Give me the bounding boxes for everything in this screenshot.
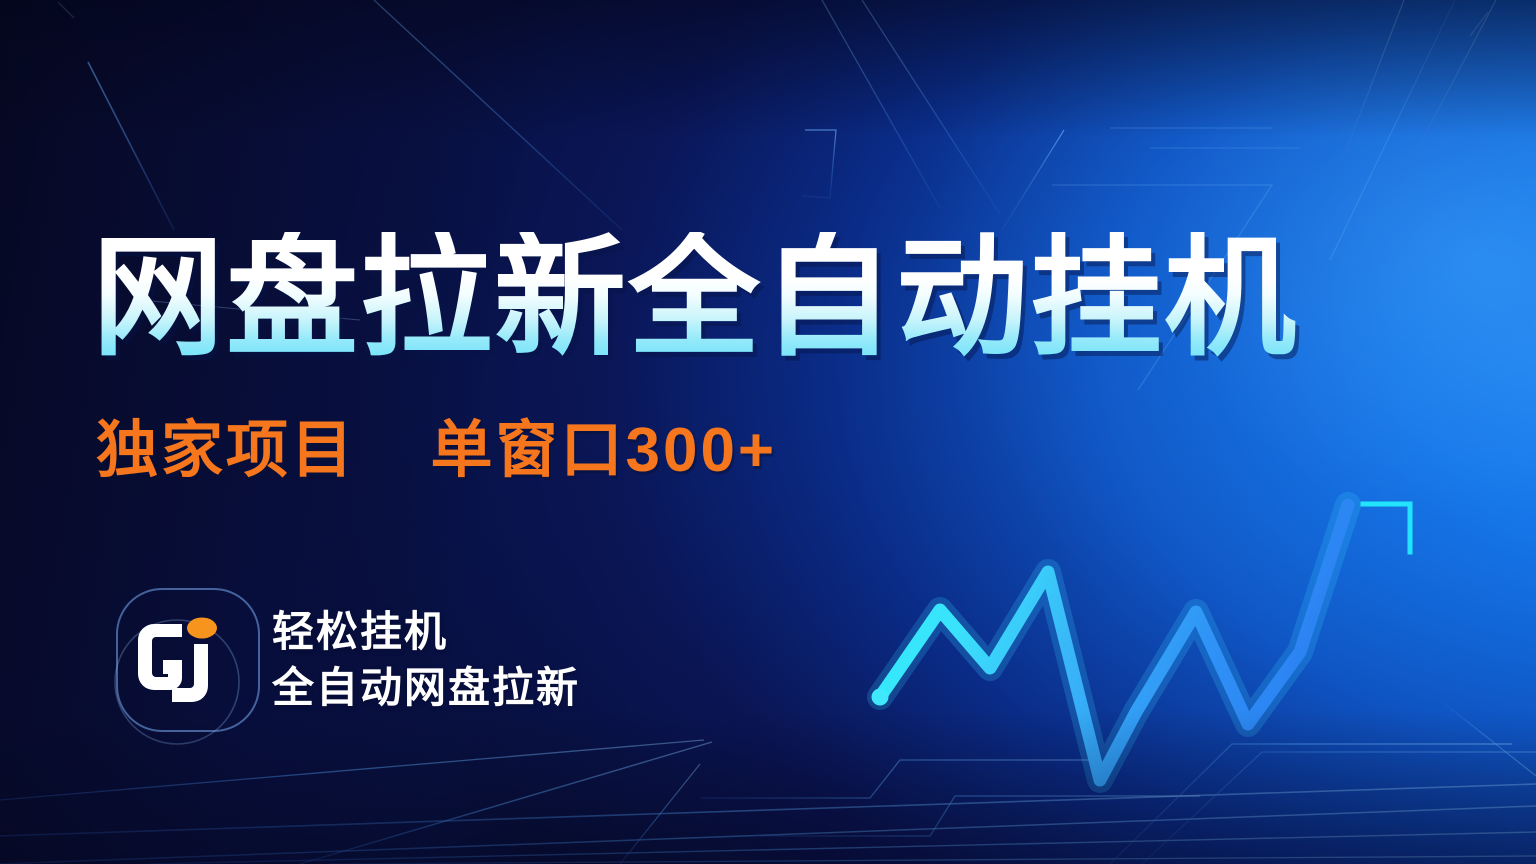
poster-canvas: 网盘拉新全自动挂机 独家项目 单窗口300+ 轻松挂机 全自动网盘拉新 (0, 0, 1536, 864)
chart-start-dot (872, 689, 889, 706)
subtitle-left: 独家项目 (96, 416, 356, 485)
chart-arrow-head-icon (1363, 504, 1410, 552)
subtitle-right: 单窗口300+ (430, 416, 777, 485)
brand-logo (116, 588, 260, 732)
tagline-line-2: 全自动网盘拉新 (272, 660, 580, 716)
tagline-block: 轻松挂机 全自动网盘拉新 (272, 604, 580, 717)
tagline-line-1: 轻松挂机 (272, 608, 448, 655)
gj-monogram-icon (116, 588, 260, 732)
page-title: 网盘拉新全自动挂机 (92, 232, 1298, 364)
chart-line-glow (880, 505, 1348, 780)
logo-orange-dot (187, 618, 217, 639)
subtitle-row: 独家项目 单窗口300+ (96, 420, 777, 482)
